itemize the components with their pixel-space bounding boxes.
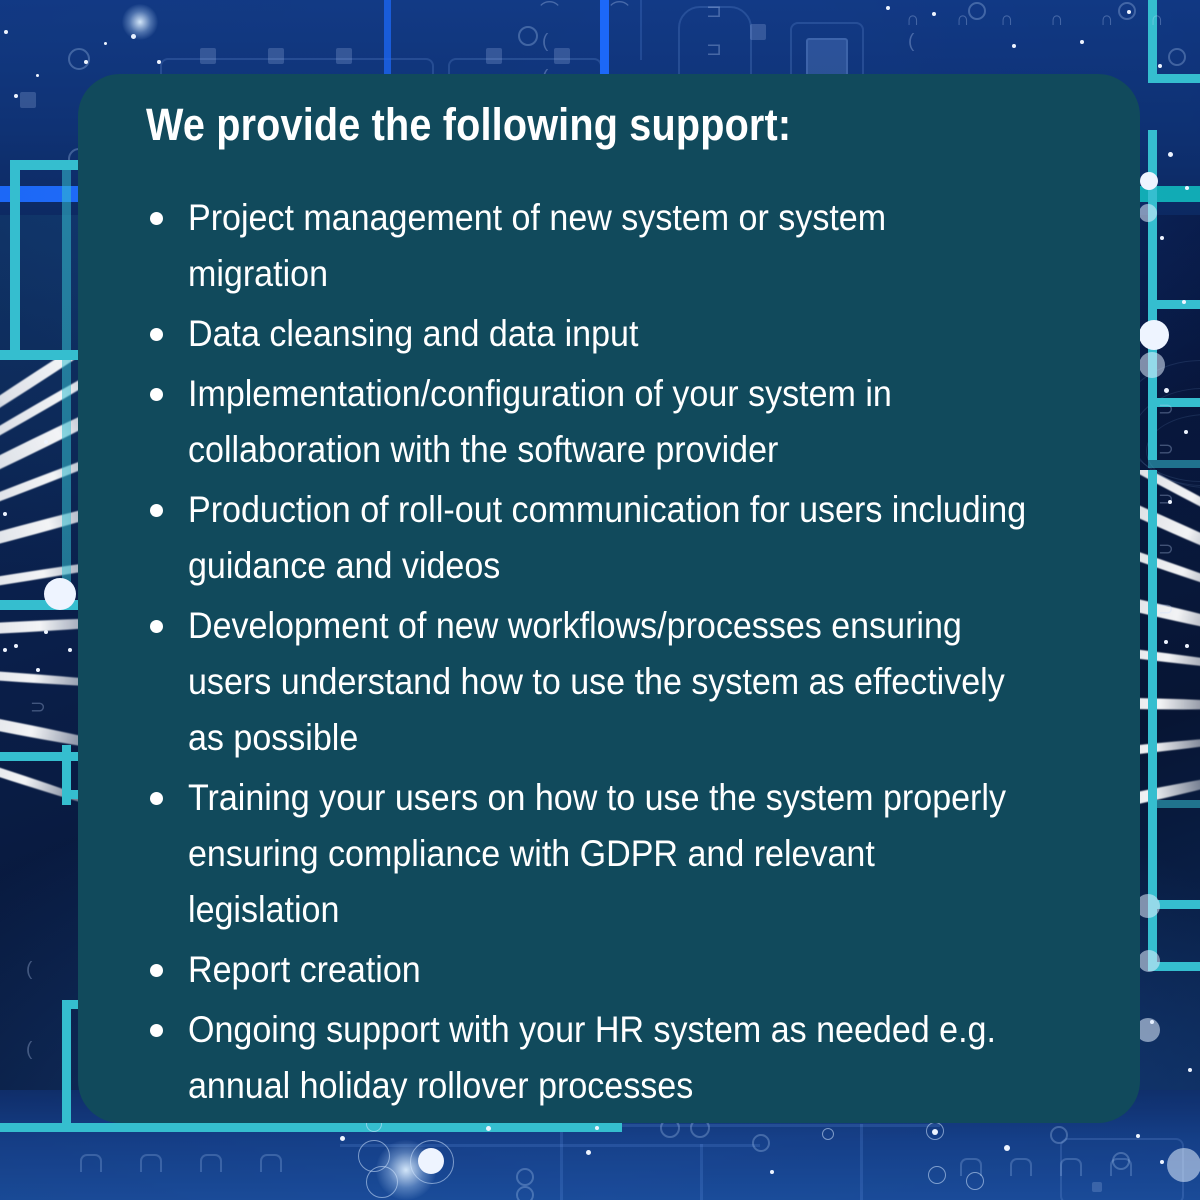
node-dot [3,512,7,516]
list-item-label: Production of roll-out communication for… [188,482,1027,594]
node-dot [586,1150,591,1155]
circuit-glyph: ( [26,1040,32,1059]
node-dot [1080,40,1084,44]
node-ring [966,1172,984,1190]
list-item: Development of new workflows/processes e… [146,598,1100,766]
support-card: We provide the following support: Projec… [78,74,1140,1123]
circuit-glyph: ⊐ [706,2,722,21]
circuit-glyph: ⊃ [1158,440,1174,459]
node-circle [1138,950,1160,972]
circuit-glyph: ⊃ [1158,600,1174,619]
circuit-glyph: ⊃ [1158,490,1174,509]
node-dot [1160,1160,1164,1164]
slide-canvas: ⌒ ⌒ ( ( ( ( ( ⊐ ⊐ ⊐ ⊐ ( ( ∩ ∩ ∩ ∩ ∩ ∩ ⊃ … [0,0,1200,1200]
node-ring [928,1166,946,1184]
node-ring [926,1122,944,1140]
node-circle [1167,1148,1200,1182]
list-item-label: Data cleansing and data input [188,306,1027,362]
circuit-glyph: ⊃ [30,698,46,717]
list-item: Data cleansing and data input [146,306,1100,362]
node-circle-large [1139,320,1169,350]
list-item: Project management of new system or syst… [146,190,1100,302]
node-dot [1188,1068,1192,1072]
card-content: We provide the following support: Projec… [146,98,1100,1118]
support-list: Project management of new system or syst… [146,190,1100,1114]
list-item: Report creation [146,942,1100,998]
node-dot [1185,186,1189,190]
cyan-line [0,1123,70,1132]
glow-node [122,4,158,40]
list-item-label: Training your users on how to use the sy… [188,770,1027,938]
node-dot [340,1136,345,1141]
node-dot [4,30,8,34]
circuit-glyph: ⌒ [610,2,629,21]
node-dot [84,60,88,64]
node-circle-large [44,578,76,610]
cyan-line [1148,460,1200,468]
circuit-glyph: ∩ [1100,10,1114,29]
node-circle [1140,172,1158,190]
node-dot [14,94,18,98]
node-circle [1139,204,1157,222]
list-item-label: Implementation/configuration of your sys… [188,366,1027,478]
node-ring [410,1140,454,1184]
node-dot [157,60,161,64]
list-item-label: Development of new workflows/processes e… [188,598,1027,766]
list-item: Production of roll-out communication for… [146,482,1100,594]
circuit-glyph: ⌒ [540,2,559,21]
node-dot [44,440,48,444]
cyan-line [62,160,71,610]
node-dot [1164,388,1169,393]
node-dot [1136,1134,1140,1138]
node-dot [1004,1145,1010,1151]
node-dot [886,6,890,10]
list-item-label: Ongoing support with your HR system as n… [188,1002,1027,1114]
cyan-line [10,160,20,360]
node-dot [104,42,107,45]
circuit-glyph: ⊃ [1158,540,1174,559]
circuit-glyph: ⊐ [706,40,722,59]
node-dot [1182,300,1186,304]
node-dot [486,1126,491,1131]
node-dot [1164,640,1168,644]
node-dot [932,12,936,16]
list-item: Ongoing support with your HR system as n… [146,1002,1100,1114]
node-dot [14,644,18,648]
circuit-glyph: ( [908,32,914,51]
cyan-line [62,1123,622,1132]
node-dot [1184,430,1188,434]
list-item-label: Report creation [188,942,1027,998]
circuit-glyph: ∩ [956,10,970,29]
node-dot [1168,152,1173,157]
node-dot [1012,44,1016,48]
node-ring [366,1166,398,1198]
node-dot [595,1126,599,1130]
circuit-glyph: ( [26,960,32,979]
circuit-glyph: ∩ [906,10,920,29]
cyan-line [1148,398,1200,407]
node-dot [1158,64,1162,68]
circuit-glyph: ⊃ [1158,400,1174,419]
cyan-line [1148,74,1200,83]
node-ring [822,1128,834,1140]
list-item: Implementation/configuration of your sys… [146,366,1100,478]
node-dot [1185,644,1189,648]
circuit-glyph: ∩ [1150,10,1164,29]
node-dot [36,74,39,77]
node-circle [1139,352,1165,378]
node-dot [1168,500,1172,504]
node-dot [770,1170,774,1174]
node-dot [68,648,72,652]
node-dot [1127,10,1131,14]
node-dot [3,648,7,652]
cyan-line [62,1000,71,1132]
node-dot [36,668,40,672]
circuit-glyph: ∩ [1000,10,1014,29]
circuit-glyph: ∩ [1050,10,1064,29]
page-title: We provide the following support: [146,98,986,152]
list-item-label: Project management of new system or syst… [188,190,1027,302]
list-item: Training your users on how to use the sy… [146,770,1100,938]
node-dot [44,630,48,634]
node-dot [1160,236,1164,240]
circuit-glyph: ( [542,32,548,51]
cyan-line [1148,300,1200,309]
